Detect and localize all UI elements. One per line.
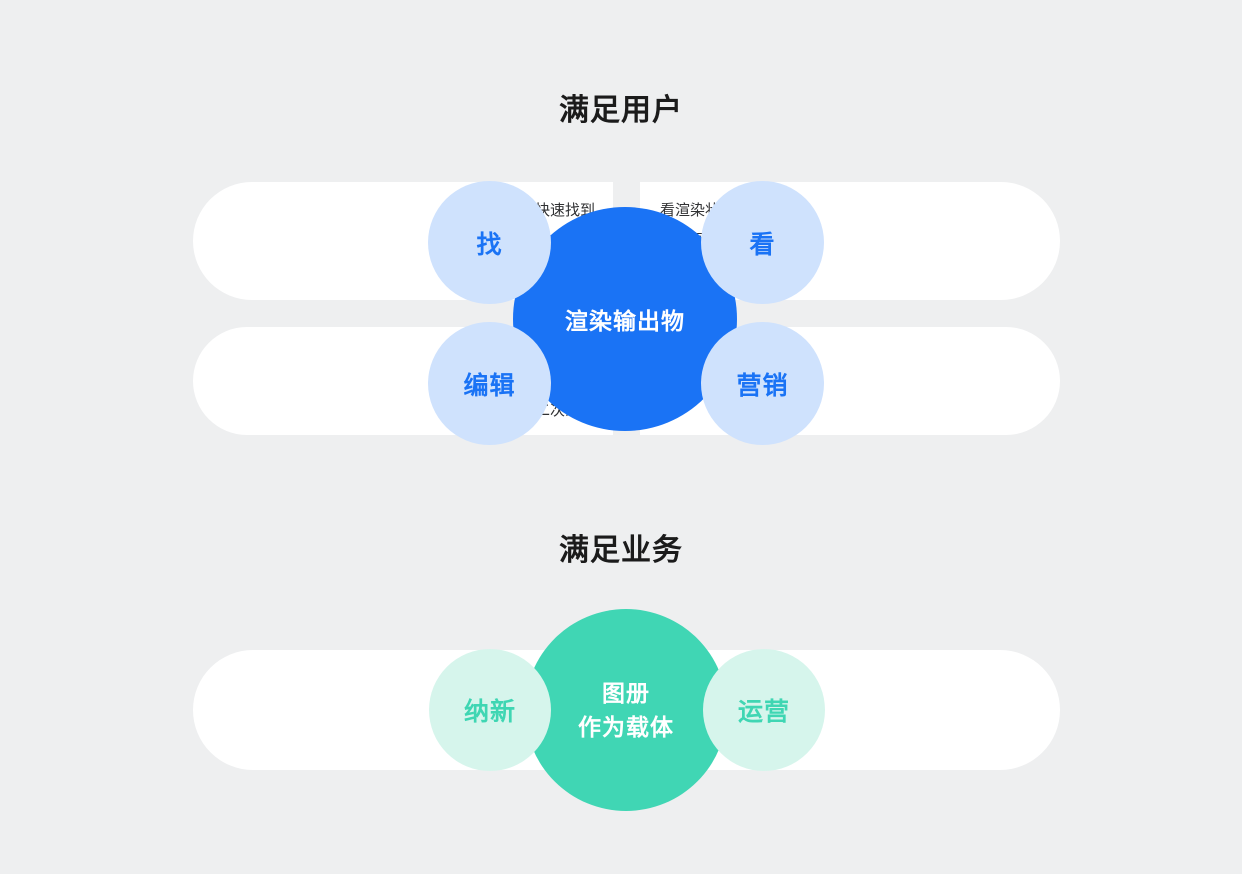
- node-new-intake[interactable]: 纳新: [429, 649, 551, 771]
- diagram-users: 快速找到 目标输出物 目标筛选类别 看渲染状态 看大图 看输出物详细信息 增删改…: [0, 160, 1242, 460]
- node-operations[interactable]: 运营: [703, 649, 825, 771]
- node-operations-label: 运营: [738, 692, 790, 728]
- panel-find-line-1: 快速找到: [193, 196, 613, 226]
- node-new-intake-label: 纳新: [464, 692, 516, 728]
- node-find[interactable]: 找: [428, 181, 551, 304]
- hub-album-carrier[interactable]: 图册 作为载体: [525, 609, 727, 811]
- section-title-business: 满足业务: [0, 536, 1242, 566]
- node-marketing[interactable]: 营销: [701, 322, 824, 445]
- diagram-business: 支持新功能 支持新输出物类型 推广渲染功能与活动 图册 作为载体 纳新 运营: [0, 590, 1242, 830]
- node-see-label: 看: [749, 225, 775, 261]
- node-find-label: 找: [476, 225, 502, 261]
- section-title-users: 满足用户: [0, 96, 1242, 126]
- node-edit-label: 编辑: [463, 366, 515, 402]
- hub-render-output-label: 渲染输出物: [565, 302, 685, 336]
- panel-see-line-1: 看渲染状态: [640, 196, 1060, 226]
- node-edit[interactable]: 编辑: [428, 322, 551, 445]
- diagram-canvas: 满足用户 快速找到 目标输出物 目标筛选类别 看渲染状态 看大图 看输出物详细信…: [0, 0, 1242, 874]
- node-marketing-label: 营销: [736, 366, 788, 402]
- node-see[interactable]: 看: [701, 181, 824, 304]
- hub-album-carrier-line-2: 作为载体: [578, 710, 674, 744]
- hub-album-carrier-line-1: 图册: [602, 676, 650, 710]
